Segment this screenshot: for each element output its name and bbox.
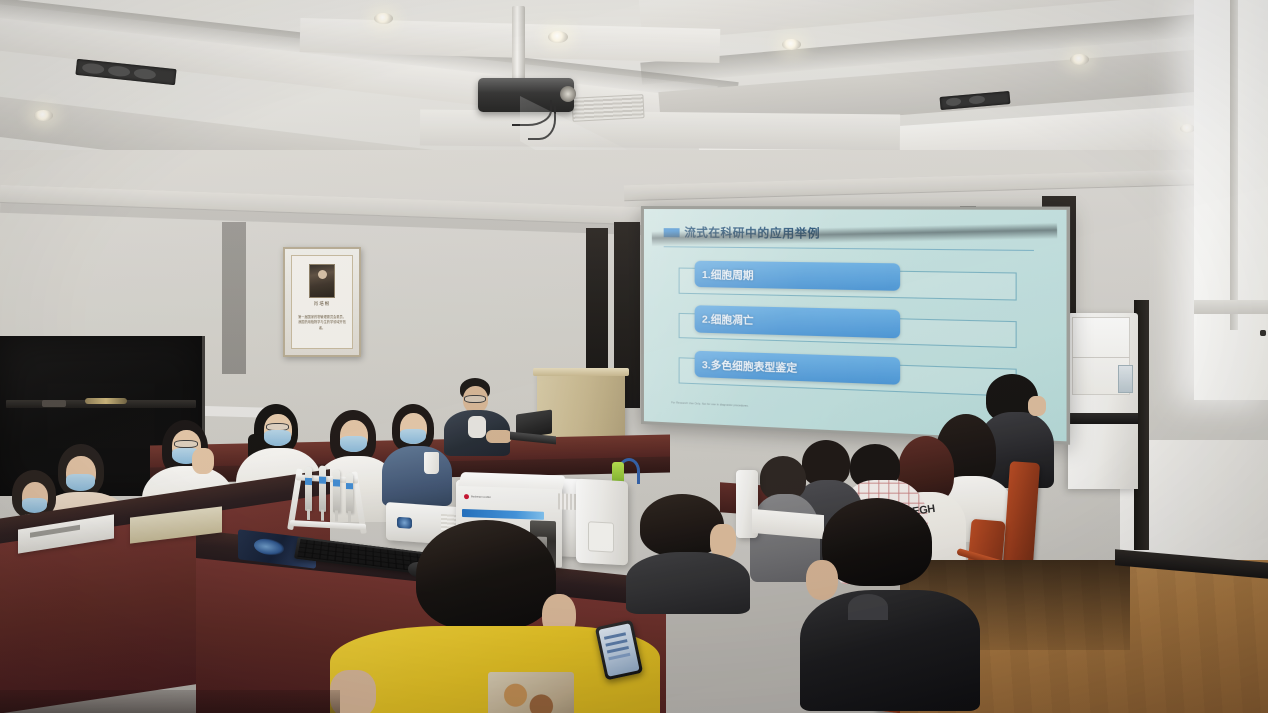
polo-collar <box>848 594 888 620</box>
slide-bullet-icon <box>663 228 679 237</box>
attendee-hair <box>416 520 556 630</box>
lectern-top <box>533 368 629 376</box>
ac-panel-seam <box>1072 357 1130 358</box>
downlight <box>1070 54 1089 65</box>
slide-title: 流式在科研中的应用举例 <box>684 225 820 242</box>
window-sill <box>1194 300 1268 314</box>
micropipette[interactable] <box>319 466 326 512</box>
attendee-denim-jacket <box>382 446 452 506</box>
presenter-shirt <box>468 416 486 438</box>
phone-screen[interactable] <box>598 623 639 677</box>
slide-item: 3.多色细胞表型鉴定 <box>679 350 1016 396</box>
eraser-icon[interactable] <box>42 400 66 407</box>
attendee-hand <box>192 448 214 474</box>
cytometer-brand-name: Beckman Coulter <box>471 495 491 499</box>
portrait-caption: 第一届国家药物管理委员会委员，我国药用植物学与生药学领域开拓者。 <box>298 315 346 331</box>
attendee <box>382 404 452 504</box>
wall-wood-inset <box>222 222 246 374</box>
marker-pen-icon[interactable] <box>85 398 127 404</box>
downlight <box>1180 124 1195 133</box>
tshirt-graphic-print <box>488 672 574 713</box>
attendee-ear <box>806 560 838 600</box>
face-mask <box>340 436 367 452</box>
downlight <box>782 39 801 50</box>
attendee-black-polo <box>800 498 980 713</box>
face-mask <box>264 430 291 446</box>
downlight <box>374 13 393 24</box>
slide-item-pill: 1.细胞周期 <box>695 261 900 291</box>
conference-room-photo: 肖培根 第一届国家药物管理委员会委员，我国药用植物学与生药学领域开拓者。 流式在… <box>0 0 1268 713</box>
cup[interactable] <box>424 452 439 474</box>
ac-vent-band <box>1068 413 1138 424</box>
window-frame <box>1230 0 1238 330</box>
ac-control-display[interactable] <box>1118 365 1133 393</box>
attendee-glasses <box>174 440 198 448</box>
attendee-yellow-shirt <box>330 520 660 713</box>
micropipette[interactable] <box>333 469 340 512</box>
slide-item: 1.细胞周期 <box>679 260 1016 300</box>
micropipette[interactable] <box>305 467 312 511</box>
slide-footnote: For Research Use Only. Not for use in di… <box>671 401 971 418</box>
micropipette[interactable] <box>346 473 353 513</box>
wall-wood-inset <box>586 228 608 368</box>
attendee-hair <box>822 498 932 586</box>
slide-item-label: 3.多色细胞表型鉴定 <box>702 357 797 376</box>
cytometer-brand-logo: Beckman Coulter <box>464 494 491 500</box>
presenter-arm <box>486 430 512 443</box>
presenter <box>444 378 514 454</box>
portrait-photo <box>309 264 335 298</box>
cytometer-accent-stripe <box>462 509 544 520</box>
wall-portrait-frame: 肖培根 第一届国家药物管理委员会委员，我国药用植物学与生药学领域开拓者。 <box>283 247 361 357</box>
portrait-name: 肖培根 <box>314 301 331 307</box>
attendee-hand <box>1028 396 1046 416</box>
window-latch-icon[interactable] <box>1260 330 1266 336</box>
downlight <box>34 110 53 121</box>
portrait-matte: 肖培根 第一届国家药物管理委员会委员，我国药用植物学与生药学领域开拓者。 <box>291 255 353 349</box>
presenter-laptop[interactable] <box>510 412 554 442</box>
brand-mark-icon <box>464 494 469 499</box>
foreground-shadow <box>0 690 340 713</box>
presenter-glasses <box>464 395 486 403</box>
face-mask <box>22 498 47 513</box>
face-mask <box>400 429 426 444</box>
slide-item: 2.细胞凋亡 <box>679 305 1016 348</box>
ceiling-beam <box>420 109 900 150</box>
slide-item-label: 2.细胞凋亡 <box>702 311 754 328</box>
attendee-black-polo-shirt <box>800 590 980 711</box>
downlight <box>548 31 568 43</box>
air-conditioner[interactable] <box>1068 313 1138 489</box>
slide-item-label: 1.细胞周期 <box>702 266 754 282</box>
projector-lens-icon <box>560 86 576 102</box>
ceiling-vent <box>571 94 644 122</box>
